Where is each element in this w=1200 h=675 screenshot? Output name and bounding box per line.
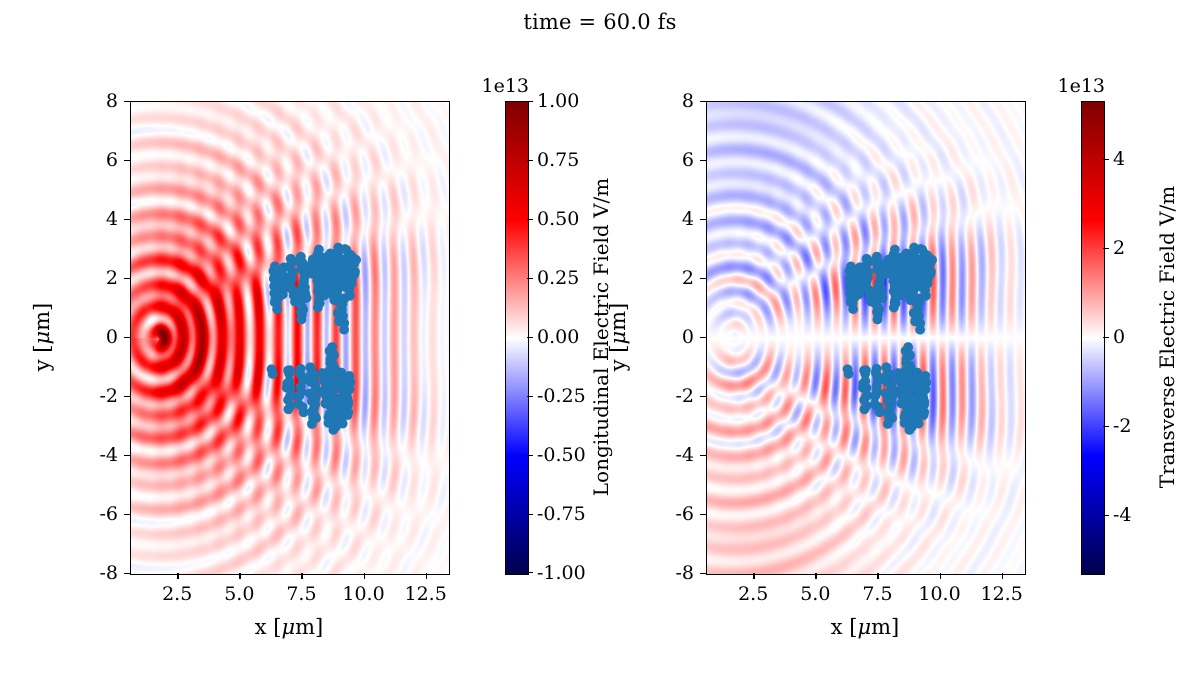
x-tick bbox=[753, 573, 754, 579]
y-tick bbox=[700, 278, 706, 279]
y-tick-label: -8 bbox=[646, 562, 694, 584]
field-heatmap-transverse bbox=[707, 102, 1025, 574]
colorbar-tick bbox=[1103, 248, 1109, 249]
y-tick bbox=[700, 101, 706, 102]
colorbar-tick-label: -2 bbox=[1113, 415, 1132, 437]
y-tick bbox=[700, 396, 706, 397]
y-tick-label: 4 bbox=[646, 208, 694, 230]
y-tick-label: 0 bbox=[646, 326, 694, 348]
colorbar-gradient bbox=[1082, 102, 1104, 574]
y-tick-label: -2 bbox=[646, 385, 694, 407]
y-tick-label: -6 bbox=[646, 503, 694, 525]
y-tick bbox=[700, 455, 706, 456]
y-tick-label: -4 bbox=[646, 444, 694, 466]
colorbar-tick bbox=[1103, 426, 1109, 427]
x-tick-label: 7.5 bbox=[862, 583, 892, 605]
colorbar-tick-label: 4 bbox=[1113, 148, 1125, 170]
colorbar-tick-label: -4 bbox=[1113, 504, 1132, 526]
y-tick-label: 8 bbox=[646, 90, 694, 112]
y-tick bbox=[700, 337, 706, 338]
x-tick-label: 12.5 bbox=[980, 583, 1022, 605]
y-tick bbox=[700, 160, 706, 161]
y-axis-label: y [μm] bbox=[606, 303, 630, 372]
colorbar-label: Transverse Electric Field V/m bbox=[1155, 186, 1179, 489]
colorbar-tick-label: 0 bbox=[1113, 326, 1125, 348]
colorbar-transverse bbox=[1081, 101, 1105, 575]
x-tick bbox=[940, 573, 941, 579]
colorbar-offset-text: 1e13 bbox=[1057, 75, 1105, 97]
x-tick bbox=[815, 573, 816, 579]
colorbar-tick bbox=[1103, 337, 1109, 338]
y-tick bbox=[700, 219, 706, 220]
colorbar-tick-label: 2 bbox=[1113, 237, 1125, 259]
axes-transverse bbox=[706, 101, 1026, 575]
figure-canvas: time = 60.0 fs 2.55.07.510.012.586420-2-… bbox=[0, 0, 1200, 675]
y-tick bbox=[700, 573, 706, 574]
x-tick-label: 10.0 bbox=[918, 583, 960, 605]
y-tick bbox=[700, 514, 706, 515]
x-tick-label: 5.0 bbox=[800, 583, 830, 605]
x-tick bbox=[877, 573, 878, 579]
plot-panel-transverse: 2.55.07.510.012.586420-2-4-6-8x [μm]y [μ… bbox=[0, 0, 1200, 675]
x-tick-label: 2.5 bbox=[738, 583, 768, 605]
x-tick bbox=[1002, 573, 1003, 579]
x-axis-label: x [μm] bbox=[831, 615, 899, 639]
colorbar-tick bbox=[1103, 159, 1109, 160]
colorbar-tick bbox=[1103, 515, 1109, 516]
y-tick-label: 2 bbox=[646, 267, 694, 289]
y-tick-label: 6 bbox=[646, 149, 694, 171]
